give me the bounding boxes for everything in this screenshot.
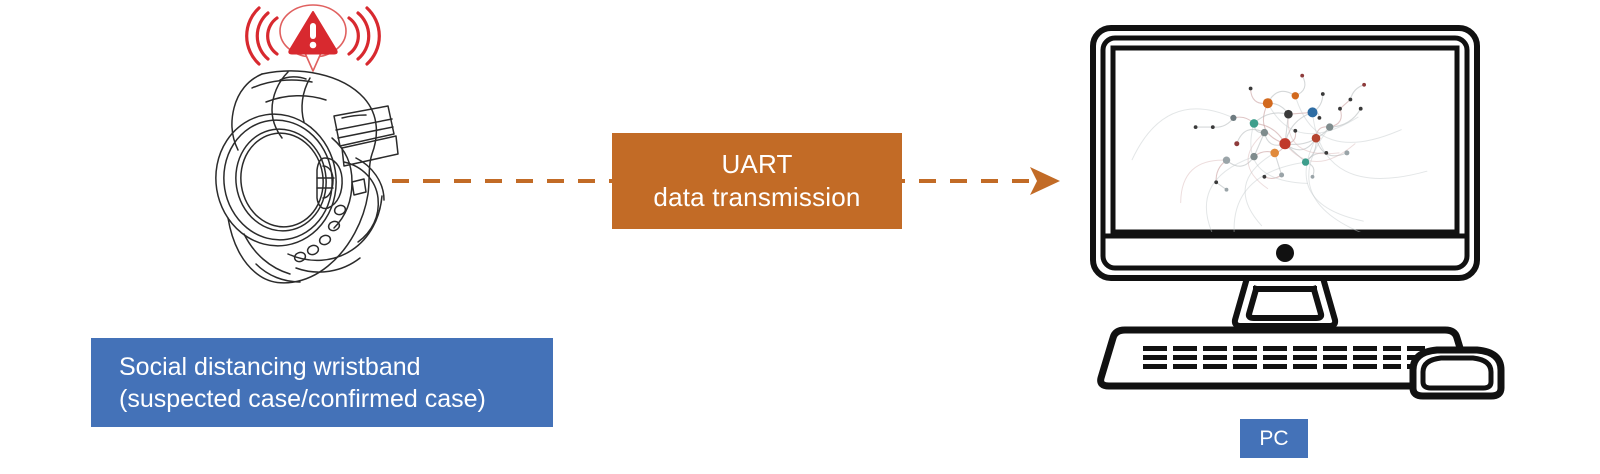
computer-svg <box>1085 20 1525 410</box>
graph-node <box>1250 153 1257 160</box>
graph-node <box>1263 98 1273 108</box>
graph-node <box>1279 138 1290 149</box>
uart-label-line1: UART <box>721 148 792 181</box>
graph-node <box>1261 129 1268 136</box>
graph-node <box>1326 123 1333 130</box>
graph-node <box>1225 188 1229 192</box>
graph-node <box>1338 107 1342 111</box>
graph-node <box>1234 141 1239 146</box>
graph-node <box>1263 175 1267 179</box>
desktop-computer-illustration <box>1085 20 1525 410</box>
graph-node <box>1302 158 1309 165</box>
graph-node <box>1349 98 1353 102</box>
graph-node <box>1194 125 1198 129</box>
signal-waves-right-icon <box>349 8 379 64</box>
monitor-stand <box>1235 278 1335 326</box>
wristband-caption-box: Social distancing wristband (suspected c… <box>91 338 553 427</box>
graph-node <box>1284 110 1293 119</box>
graph-node <box>1214 180 1218 184</box>
wristband-svg <box>192 58 412 293</box>
monitor-frame <box>1093 28 1477 278</box>
smartwatch-wristband-illustration <box>192 58 412 293</box>
graph-node <box>1359 107 1363 111</box>
power-indicator-dot <box>1276 244 1294 262</box>
graph-node <box>1308 107 1318 117</box>
graph-node <box>1344 150 1349 155</box>
uart-transmission-label: UART data transmission <box>612 133 902 229</box>
graph-node <box>1300 74 1304 78</box>
graph-node <box>1311 175 1315 179</box>
graph-node <box>1362 83 1366 87</box>
graph-node <box>1270 149 1279 158</box>
graph-node <box>1279 173 1284 178</box>
graph-node <box>1318 116 1322 120</box>
graph-node <box>1211 125 1215 129</box>
wristband-caption-line1: Social distancing wristband <box>119 351 553 383</box>
graph-node <box>1293 129 1297 133</box>
wristband-caption-line2: (suspected case/confirmed case) <box>119 383 553 415</box>
graph-node <box>1230 115 1236 121</box>
mouse-icon <box>1413 350 1501 396</box>
graph-node <box>1321 92 1325 96</box>
graph-node <box>1250 119 1259 128</box>
graph-node <box>1292 92 1299 99</box>
diagram-canvas: UART data transmission Social distancing… <box>0 0 1600 474</box>
graph-node <box>1324 151 1328 155</box>
graph-node <box>1249 87 1253 91</box>
pc-label-text: PC <box>1259 427 1288 451</box>
arrowhead-icon <box>1030 167 1060 195</box>
graph-node <box>1312 134 1321 143</box>
signal-waves-left-icon <box>247 8 277 64</box>
pc-label-box: PC <box>1240 419 1308 458</box>
graph-node <box>1223 157 1230 164</box>
uart-label-line2: data transmission <box>653 181 860 214</box>
